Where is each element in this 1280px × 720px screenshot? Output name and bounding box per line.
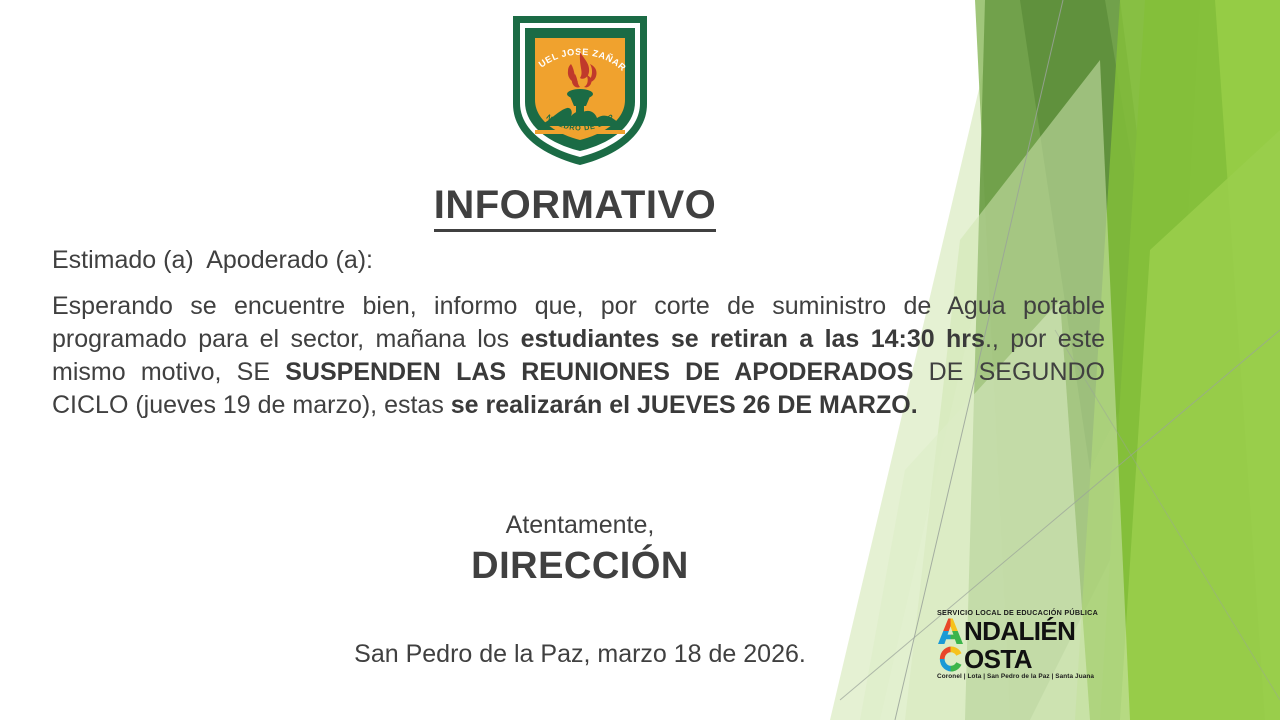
page-title-text: INFORMATIVO <box>434 183 717 232</box>
body-paragraph: Esperando se encuentre bien, informo que… <box>52 290 1105 422</box>
multicolor-a-icon <box>937 617 964 645</box>
regards-line: Atentamente, <box>0 508 1160 542</box>
paragraph-run-1: estudiantes se retiran a las 14:30 hrs <box>521 325 985 353</box>
slep-communes: Coronel | Lota | San Pedro de la Paz | S… <box>937 673 1099 681</box>
slep-andalien-text: NDALIÉN <box>964 618 1075 644</box>
slep-line-costa: OSTA <box>937 645 1099 673</box>
greeting-line: Estimado (a) Apoderado (a): <box>52 246 373 275</box>
slep-andalien-costa-logo: SERVICIO LOCAL DE EDUCACIÓN PÚBLICA NDAL… <box>937 608 1099 684</box>
page-title: INFORMATIVO <box>0 183 1150 228</box>
slep-costa-text: OSTA <box>964 646 1032 672</box>
school-crest-logo: MIGUEL JOSE ZAÑARTU SAN PEDRO DE LA PAZ <box>505 8 655 170</box>
multicolor-c-icon <box>937 645 964 673</box>
signature-line: DIRECCIÓN <box>0 542 1160 590</box>
closing-block: Atentamente, DIRECCIÓN <box>0 508 1160 590</box>
paragraph-run-5: se realizarán el JUEVES 26 DE MARZO. <box>451 391 918 419</box>
slide-canvas: MIGUEL JOSE ZAÑARTU SAN PEDRO DE LA PAZ … <box>0 0 1280 720</box>
paragraph-run-3: SUSPENDEN LAS REUNIONES DE APODERADOS <box>285 358 913 386</box>
slep-line-andalien: NDALIÉN <box>937 617 1099 645</box>
